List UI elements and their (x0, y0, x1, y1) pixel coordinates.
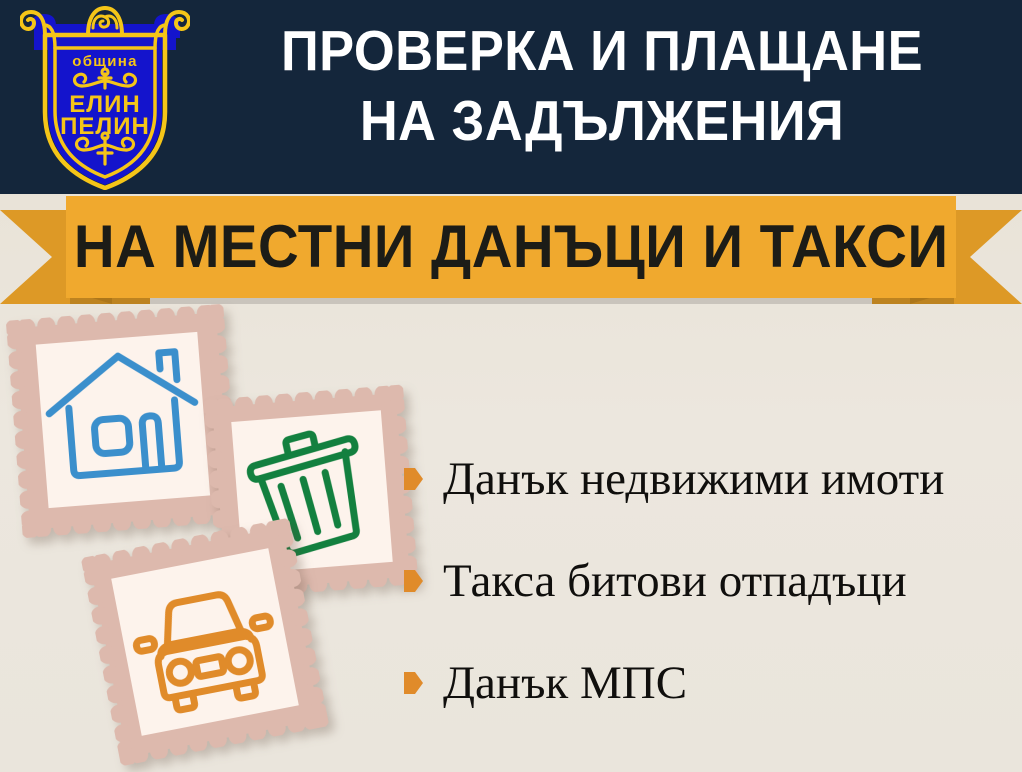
list-item-label: Данък недвижими имоти (443, 453, 944, 505)
list-item[interactable]: Данък МПС (404, 632, 1014, 734)
list-item[interactable]: Такса битови отпадъци (404, 530, 1014, 632)
tax-type-list: Данък недвижими имоти Такса битови отпад… (404, 428, 1014, 734)
page-title-line-1: ПРОВЕРКА И ПЛАЩАНЕ (228, 16, 975, 86)
stamp-car (81, 518, 330, 767)
ribbon-subtitle-text: НА МЕСТНИ ДАНЪЦИ И ТАКСИ (74, 216, 949, 278)
list-item-label: Такса битови отпадъци (443, 555, 907, 607)
arrow-bullet-icon (404, 468, 423, 490)
subtitle-ribbon: НА МЕСТНИ ДАНЪЦИ И ТАКСИ (0, 196, 1022, 308)
header-title-block: ПРОВЕРКА И ПЛАЩАНЕ НА ЗАДЪЛЖЕНИЯ (196, 16, 1008, 156)
elin-pelin-municipality-coat-of-arms-logo: община ЕЛИН ПЕЛИН (20, 4, 190, 190)
ribbon-center-panel: НА МЕСТНИ ДАНЪЦИ И ТАКСИ (66, 196, 956, 298)
page-title-line-2: НА ЗАДЪЛЖЕНИЯ (228, 86, 975, 156)
poster-canvas: община ЕЛИН ПЕЛИН ПРОВЕРКА И ПЛАЩАНЕ НА … (0, 0, 1022, 772)
arrow-bullet-icon (404, 570, 423, 592)
list-item-label: Данък МПС (443, 657, 687, 709)
logo-top-word: община (72, 53, 138, 70)
list-item[interactable]: Данък недвижими имоти (404, 428, 1014, 530)
logo-name-line2: ПЕЛИН (60, 113, 150, 140)
arrow-bullet-icon (404, 672, 423, 694)
header-banner: община ЕЛИН ПЕЛИН ПРОВЕРКА И ПЛАЩАНЕ НА … (0, 0, 1022, 194)
